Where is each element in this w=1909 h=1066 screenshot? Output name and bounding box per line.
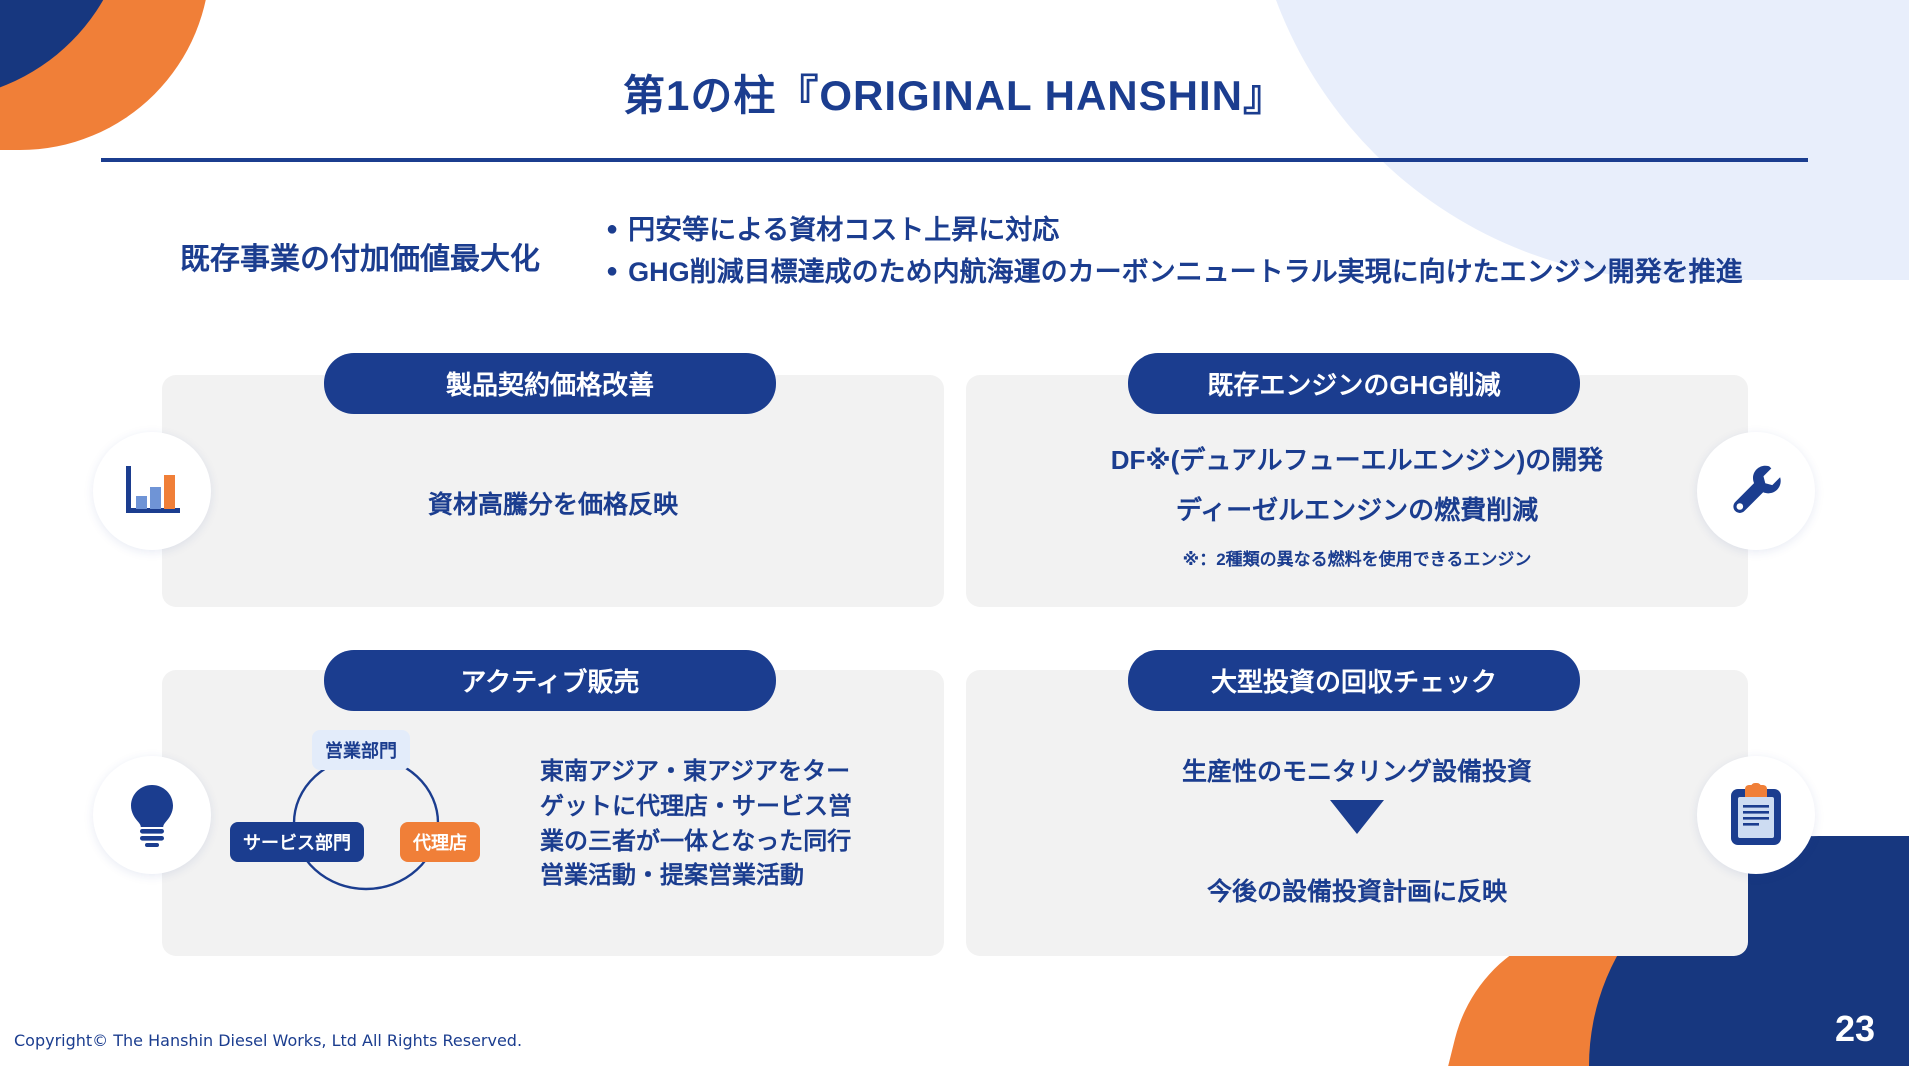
panel-footnote-ghg: ※：2種類の異なる燃料を使用できるエンジン	[966, 545, 1748, 570]
wrench-icon	[1725, 460, 1787, 522]
diagram-node-service-dept: サービス部門	[230, 822, 364, 862]
bullet-item: ● GHG削減目標達成のため内航海運のカーボンニュートラル実現に向けたエンジン開…	[606, 252, 1743, 294]
copyright-text: Copyright© The Hanshin Diesel Works, Ltd…	[14, 1031, 522, 1050]
page-number: 23	[1835, 1008, 1875, 1050]
diagram-node-agency: 代理店	[400, 822, 480, 862]
bullet-marker-icon: ●	[606, 252, 618, 290]
panel-body-active-sales: 東南アジア・東アジアをターゲットに代理店・サービス営業の三者が一体となった同行営…	[540, 755, 870, 894]
bullet-item: ● 円安等による資材コスト上昇に対応	[606, 210, 1743, 252]
lightbulb-icon	[123, 783, 181, 847]
bullet-marker-icon: ●	[606, 210, 618, 248]
panel-title-ghg-reduction: 既存エンジンのGHG削減	[1128, 353, 1580, 414]
badge-clipboard	[1697, 756, 1815, 874]
bullet-text: 円安等による資材コスト上昇に対応	[628, 210, 1059, 252]
down-arrow-icon	[966, 800, 1748, 839]
panel-body-ghg-line2: ディーゼルエンジンの燃費削減	[966, 490, 1748, 527]
panel-body-product-contract-price: 資材高騰分を価格反映	[162, 485, 944, 521]
page-title: 第1の柱『ORIGINAL HANSHIN』	[0, 62, 1909, 123]
panel-title-active-sales: アクティブ販売	[324, 650, 776, 711]
panel-title-investment-recovery-check: 大型投資の回収チェック	[1128, 650, 1580, 711]
bar-chart-icon	[121, 462, 183, 520]
title-divider	[101, 158, 1808, 162]
bullet-text: GHG削減目標達成のため内航海運のカーボンニュートラル実現に向けたエンジン開発を…	[628, 252, 1743, 294]
panel-body-ghg-line1: DF※(デュアルフューエルエンジン)の開発	[966, 440, 1748, 477]
badge-wrench	[1697, 432, 1815, 550]
slide-root: 第1の柱『ORIGINAL HANSHIN』 既存事業の付加価値最大化 ● 円安…	[0, 0, 1909, 1066]
panel-body-investment-line1: 生産性のモニタリング設備投資	[966, 752, 1748, 788]
panel-title-product-contract-price: 製品契約価格改善	[324, 353, 776, 414]
bullet-list: ● 円安等による資材コスト上昇に対応 ● GHG削減目標達成のため内航海運のカー…	[606, 210, 1743, 294]
panel-body-investment-line2: 今後の設備投資計画に反映	[966, 872, 1748, 908]
section-heading: 既存事業の付加価値最大化	[140, 234, 580, 278]
diagram-node-sales-dept: 営業部門	[312, 730, 410, 770]
sales-triangle-diagram: 営業部門 サービス部門 代理店	[250, 730, 510, 910]
clipboard-icon	[1727, 783, 1785, 847]
badge-lightbulb	[93, 756, 211, 874]
badge-bar-chart	[93, 432, 211, 550]
